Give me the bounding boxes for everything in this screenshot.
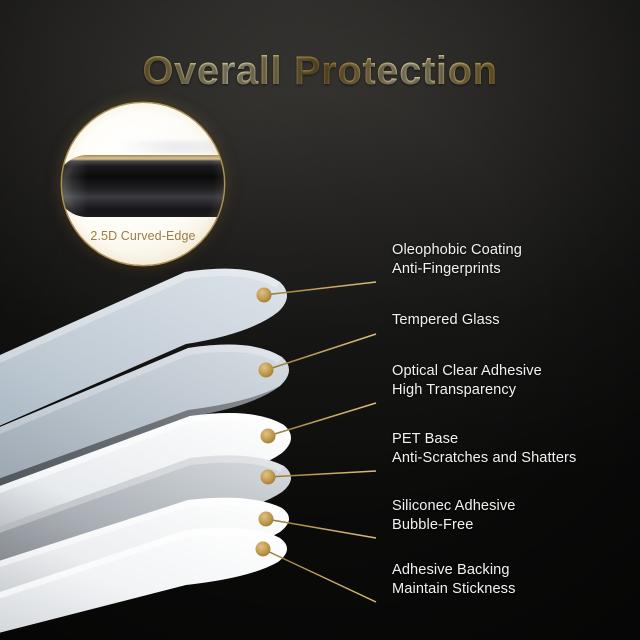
callout-line-1: PET Base	[392, 430, 576, 449]
product-infographic: Overall Protection 2.5D Curved-Edge	[0, 0, 640, 640]
callout-line-2: Anti-Scratches and Shatters	[392, 449, 576, 468]
callout-line-1: Tempered Glass	[392, 311, 500, 330]
leader-line-adhesive-backing	[263, 549, 376, 602]
anchor-dot-oleophobic-coating	[257, 288, 272, 303]
anchor-dot-optical-clear-adhesive	[261, 429, 276, 444]
anchor-dot-siliconec-adhesive	[259, 512, 274, 527]
anchor-dot-adhesive-backing	[256, 542, 271, 557]
callout-line-2: High Transparency	[392, 381, 542, 400]
anchor-dot-tempered-glass	[259, 363, 274, 378]
callout-label-optical-clear-adhesive: Optical Clear Adhesive High Transparency	[392, 362, 542, 401]
callout-label-pet-base: PET Base Anti-Scratches and Shatters	[392, 430, 576, 469]
leader-line-tempered-glass	[266, 334, 376, 370]
callout-line-1: Oleophobic Coating	[392, 241, 522, 260]
callout-line-2: Maintain Stickness	[392, 580, 515, 599]
callout-line-2: Bubble-Free	[392, 516, 516, 535]
callout-label-adhesive-backing: Adhesive Backing Maintain Stickness	[392, 561, 515, 600]
callout-line-1: Optical Clear Adhesive	[392, 362, 542, 381]
callout-label-siliconec-adhesive: Siliconec Adhesive Bubble-Free	[392, 497, 516, 536]
leader-line-optical-clear-adhesive	[268, 403, 376, 436]
callout-line-1: Siliconec Adhesive	[392, 497, 516, 516]
callout-line-1: Adhesive Backing	[392, 561, 515, 580]
callout-line-2: Anti-Fingerprints	[392, 260, 522, 279]
layer-stack-diagram	[0, 0, 640, 640]
callout-label-oleophobic-coating: Oleophobic Coating Anti-Fingerprints	[392, 241, 522, 280]
callout-label-tempered-glass: Tempered Glass	[392, 311, 500, 330]
anchor-dot-pet-base	[261, 470, 276, 485]
